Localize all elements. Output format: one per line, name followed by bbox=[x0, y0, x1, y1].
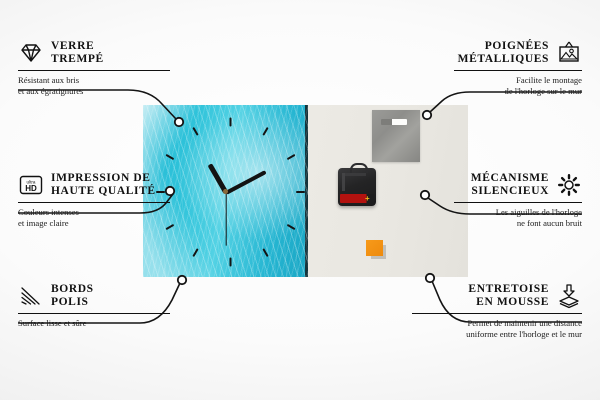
callout-title: VERRE TREMPÉ bbox=[51, 40, 104, 66]
callout-verre-trempe: VERRE TREMPÉ Résistant aux bris et aux é… bbox=[18, 40, 170, 96]
clock-second-hand bbox=[225, 192, 226, 246]
foam-spacer-part bbox=[366, 240, 383, 256]
callout-title: ENTRETOISE EN MOUSSE bbox=[412, 283, 549, 309]
clock-center-pin bbox=[223, 189, 228, 194]
callout-subtitle: Permet de maintenir une distance uniform… bbox=[412, 318, 582, 339]
clock-dial bbox=[143, 105, 308, 277]
polished-edge-icon bbox=[18, 283, 44, 309]
diamond-icon bbox=[18, 40, 44, 66]
callout-header: POIGNÉES MÉTALLIQUES bbox=[430, 40, 582, 66]
callout-subtitle: Facilite le montage de l'horloge sur le … bbox=[430, 75, 582, 96]
callout-divider bbox=[18, 70, 170, 71]
gear-icon bbox=[556, 172, 582, 198]
svg-text:HD: HD bbox=[25, 184, 37, 193]
infographic-canvas: + bbox=[0, 0, 600, 400]
callout-title: POIGNÉES MÉTALLIQUES bbox=[430, 40, 549, 66]
connector-endpoint bbox=[178, 276, 186, 284]
callout-divider bbox=[454, 202, 582, 203]
callout-title: BORDS POLIS bbox=[51, 283, 94, 309]
callout-title: IMPRESSION DE HAUTE QUALITÉ bbox=[51, 172, 156, 198]
clock-minute-hand bbox=[225, 170, 267, 195]
callout-mecanisme-silencieux: MÉCANISME SILENCIEUX Les aiguilles de l'… bbox=[430, 172, 582, 228]
clock-mechanism-part: + bbox=[338, 168, 376, 206]
callout-title: MÉCANISME SILENCIEUX bbox=[430, 172, 549, 198]
callout-header: VERRE TREMPÉ bbox=[18, 40, 170, 66]
callout-divider bbox=[412, 313, 582, 314]
hanging-frame-icon bbox=[556, 40, 582, 66]
product-image: + bbox=[143, 105, 468, 277]
callout-poignees-metalliques: POIGNÉES MÉTALLIQUES Facilite le montage… bbox=[430, 40, 582, 96]
battery-plus-icon: + bbox=[365, 195, 371, 202]
mechanism-label-print bbox=[342, 173, 366, 191]
callout-header: ENTRETOISE EN MOUSSE bbox=[412, 283, 582, 309]
hanger-plate-part bbox=[372, 110, 420, 162]
callout-divider bbox=[18, 313, 170, 314]
callout-subtitle: Les aiguilles de l'horloge ne font aucun… bbox=[430, 207, 582, 228]
foam-spacer-icon bbox=[556, 283, 582, 309]
mechanism-hanging-loop bbox=[350, 163, 368, 173]
callout-entretoise-en-mousse: ENTRETOISE EN MOUSSE Permet de maintenir… bbox=[412, 283, 582, 339]
callout-header: BORDS POLIS bbox=[18, 283, 170, 309]
callout-divider bbox=[454, 70, 582, 71]
ultra-hd-icon: ultra HD bbox=[18, 172, 44, 198]
callout-subtitle: Surface lisse et sûre bbox=[18, 318, 170, 329]
callout-subtitle: Résistant aux bris et aux égratignures bbox=[18, 75, 170, 96]
callout-header: MÉCANISME SILENCIEUX bbox=[430, 172, 582, 198]
callout-bords-polis: BORDS POLIS Surface lisse et sûre bbox=[18, 283, 170, 329]
